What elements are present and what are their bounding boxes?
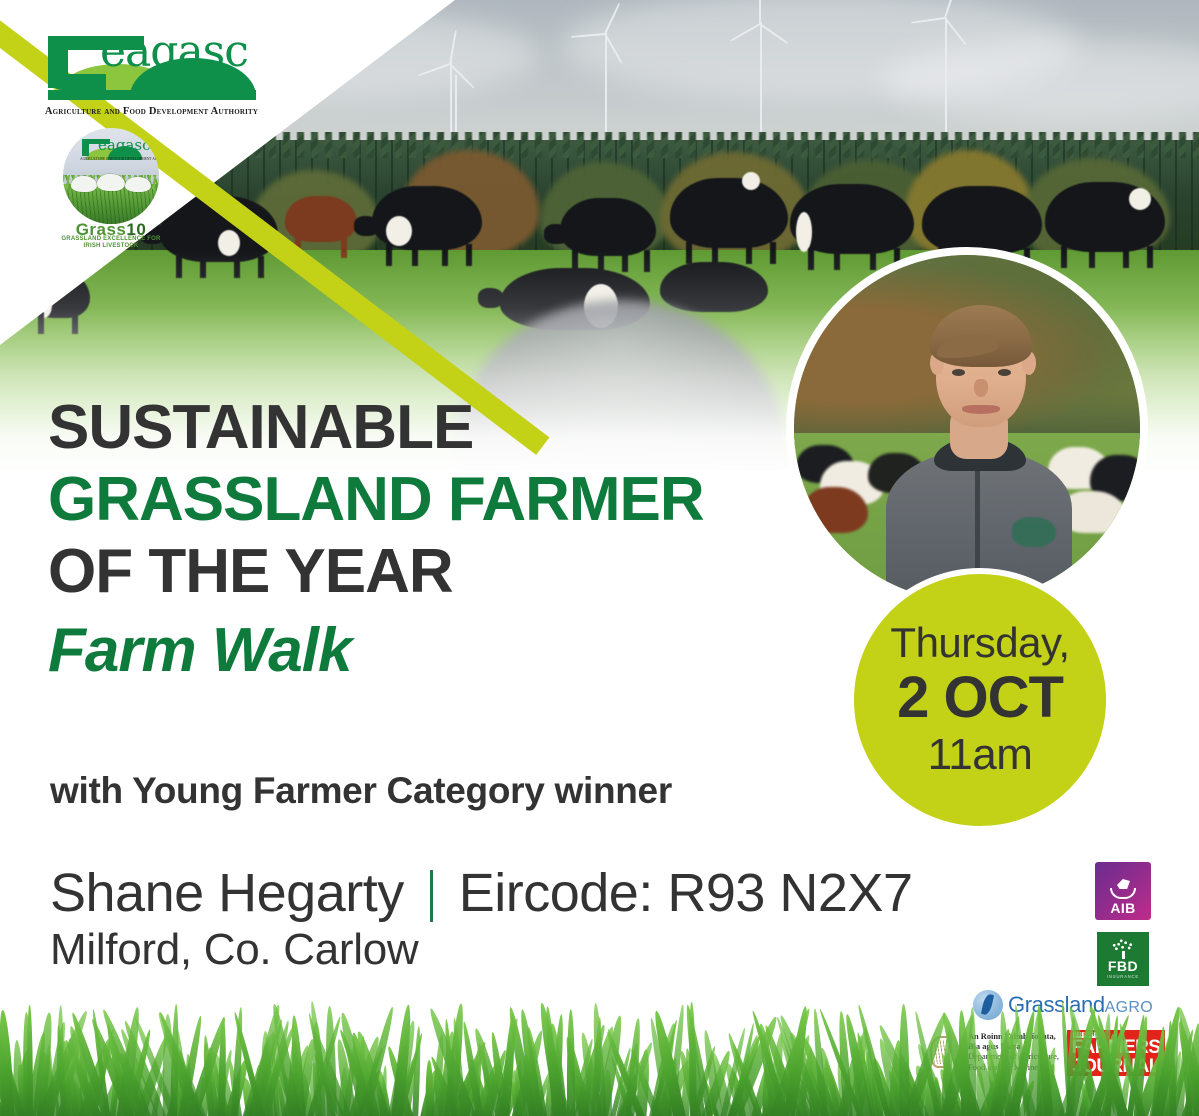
grass-blade [731,1071,747,1116]
grass-blade [133,1034,171,1116]
grassland-agro-word: Grassland [1008,992,1105,1017]
grass-blade [398,1058,420,1116]
grass-blade [200,1043,219,1116]
grass-blade [823,1063,847,1116]
grass-blade [64,1038,84,1116]
grass-blade [836,1064,847,1116]
grass-blade [204,1047,225,1116]
grass-blade [520,1054,542,1116]
grass-blade [175,1029,191,1116]
dafm-line-3: Department of Agriculture, [968,1052,1059,1062]
cow [922,186,1042,254]
grass-blade [524,1026,548,1116]
fbd-subtitle: INSURANCE [1107,974,1139,979]
grass-blade [480,1068,503,1116]
grass-blade [65,1041,104,1116]
sponsor-logo-irish-farmers-journal: IRISH FARMERS JOURNAL [1067,1030,1165,1076]
grass-blade [869,1072,884,1116]
grass-blade [61,1058,80,1116]
grass-blade [391,1004,414,1116]
grass-blade [106,1031,140,1116]
grass-blade [562,1036,590,1116]
grass10-mini-teagasc-logo: eagasc AGRICULTURE AND FOOD DEVELOPMENT … [80,136,142,162]
grass-blade [667,1004,686,1116]
grass-blade [35,1009,91,1116]
dafm-line-1: An Roinn Talmhaíochta, [968,1032,1059,1042]
grass-blade [775,1016,816,1116]
grass-blade [56,1033,85,1116]
grass-blade [856,1004,892,1116]
grass-blade [811,1008,828,1116]
grass-blade [99,1008,153,1116]
grass-blade [479,1048,494,1116]
grass-blade [155,1011,202,1116]
date-badge-date: 2 OCT [897,666,1063,730]
grass-blade [778,1036,813,1116]
grass-blade [821,1059,829,1116]
grass-blade [889,1066,917,1116]
grass-blade [306,1013,336,1116]
teagasc-logo: eagasc Agriculture and Food Development … [44,28,259,116]
grass-blade [609,1047,633,1116]
grass-blade [683,1048,698,1116]
teagasc-wordmark: eagasc [100,26,248,77]
grass-blade [685,1006,714,1116]
grass-blade [651,1009,687,1116]
grass-blade [635,1049,652,1116]
date-badge: Thursday, 2 OCT 11am [848,568,1112,832]
grass-blade [567,1057,590,1116]
grass-blade [515,1059,523,1116]
grass-blade [817,1007,864,1116]
grass-blade [526,1075,548,1116]
grass-blade [125,1063,142,1116]
grass-blade [269,1033,294,1116]
grass-blade [60,1041,71,1116]
grass-blade [253,1018,286,1116]
grass-blade [546,1023,567,1116]
grass-blade [224,1058,252,1116]
grass-blade [186,1016,229,1116]
grass-blade [314,1059,322,1116]
grass-blade [430,1069,451,1116]
grass-blade [334,1038,358,1116]
grass-blade [0,1069,5,1116]
grass-blade [45,1045,53,1116]
grass-blade [650,1020,679,1116]
grass-blade [651,1075,680,1116]
grass-blade [430,1079,449,1116]
grass-blade [799,1036,839,1116]
grass-blade [311,1021,326,1116]
grass-blade [726,1034,763,1116]
grass-blade [117,1052,145,1116]
grass-blade [91,1009,111,1116]
grass-blade [615,1043,641,1116]
grass10-subtitle-line2: IRISH LIVESTOCK [84,243,139,249]
portrait-gilet-logo [1012,517,1056,547]
grass-blade [783,1006,811,1116]
grass-blade [0,1062,15,1116]
grass-blade [544,1067,554,1116]
grass-blade [603,1070,612,1116]
grass-blade [342,1037,359,1116]
grass-blade [348,1031,381,1116]
grass10-circle: eagasc AGRICULTURE AND FOOD DEVELOPMENT … [63,128,159,224]
headline-line-1: SUSTAINABLE [48,392,838,464]
grass-blade [26,1032,49,1116]
grass-blade [97,1062,131,1116]
dafm-line-4: Food and the Marine [968,1063,1059,1073]
grass-blade [661,1035,682,1116]
presenter-row: Shane Hegarty Eircode: R93 N2X7 [50,862,912,924]
grass-blade [231,1007,244,1116]
grass-blade [591,1003,607,1116]
grass-blade [0,1056,25,1116]
grass-blade [150,1068,166,1116]
grass-blade [628,1048,663,1116]
grass-blade [324,1006,336,1116]
grass-blade [795,1047,815,1116]
grass-blade [625,1018,642,1116]
grass-blade [169,1075,183,1116]
grass-blade [811,1071,824,1116]
grass-blade [255,1024,297,1116]
grass-blade [762,1052,773,1116]
cow [1045,182,1165,252]
livestock-silhouette [71,176,97,192]
grass-blade [170,1057,193,1116]
grass-blade [270,1045,280,1116]
grass-blade [294,1039,317,1116]
grass-blade [400,1078,406,1116]
grass-blade [373,1069,392,1116]
grass-blade [544,1006,561,1116]
grass-blade [449,1040,490,1116]
grass-blade [648,1022,679,1116]
grass-blade [552,1080,574,1116]
presenter-name: Shane Hegarty [50,862,404,924]
grass-blade [110,1045,134,1116]
grass-blade [275,1078,287,1116]
grass-blade [69,1011,113,1116]
grass-blade [116,1006,143,1116]
grass-blade [260,1044,278,1116]
grass-blade [488,1031,509,1116]
grass-blade [124,1029,153,1116]
grass-blade [389,1020,418,1116]
grass-blade [550,1014,566,1116]
cow [670,178,788,248]
grass-blade [760,1063,788,1116]
grass-blade [497,1081,522,1116]
dafm-wordmark: An Roinn Talmhaíochta, Bia agus Mara Dep… [968,1032,1059,1073]
grass-blade [783,1062,810,1116]
grass-blade [806,1060,819,1116]
grass-blade [689,1045,718,1116]
grass-blade [837,1011,853,1116]
grass-blade [0,1025,13,1116]
grass-blade [288,1039,299,1116]
grass-blade [211,1063,231,1116]
grass-blade [431,1034,446,1116]
grass-blade [162,1013,174,1116]
grass10-mini-tagline: AGRICULTURE AND FOOD DEVELOPMENT AUTHORI… [80,157,142,161]
presenter-location: Milford, Co. Carlow [50,925,418,975]
grass-blade [0,1044,8,1116]
grass-blade [648,1016,673,1116]
grass-blade [726,1015,780,1116]
grass-blade [460,1021,484,1116]
grass-blade [280,1044,311,1116]
sponsor-logo-grassland-agro: GrasslandAGRO [973,990,1153,1020]
cow [285,196,357,242]
grass-blade [164,1025,208,1116]
grass-blade [202,1034,215,1116]
grass-blade [17,1050,32,1116]
grass-blade [604,1031,647,1116]
grass-blade [869,1057,897,1116]
grass-blade [683,1004,705,1116]
grass10-subtitle: GRASSLAND EXCELLENCE FOR IRISH LIVESTOCK [56,236,166,250]
sponsor-logos: AIB FBD INSURANCE GrasslandAGRO An Roinn [915,862,1190,1102]
grass-blade [385,1045,415,1116]
grass-blade [0,1016,9,1116]
grass-blade [578,1031,604,1116]
grass-blade [536,1001,568,1116]
grass-blade [56,1063,79,1116]
grass-blade [78,1037,88,1116]
date-badge-time: 11am [928,730,1033,780]
grass-blade [387,1016,413,1116]
grass-blade [311,1053,346,1116]
grass-blade [750,1059,773,1116]
grass-blade [120,1058,141,1116]
grass-blade [15,1064,35,1116]
presenter-eircode: Eircode: R93 N2X7 [459,862,913,924]
grass-blade [808,1047,815,1116]
grass-blade [726,1034,761,1116]
grass-blade [380,1065,388,1116]
grass-blade [242,1074,272,1116]
headline-line-3: OF THE YEAR [48,536,838,608]
cow [372,186,482,250]
grass-blade [610,1057,635,1116]
grass-blade [750,1010,791,1116]
grass-blade [480,1049,509,1116]
grass-blade [688,1002,697,1116]
grass-blade [358,1006,397,1116]
grass-blade [0,1049,3,1116]
grass-blade [66,1025,101,1116]
grass-blade [337,1012,374,1116]
grassland-agro-suffix: AGRO [1105,999,1153,1016]
cow [560,198,656,256]
grass-blade [22,1012,33,1116]
grass-blade [337,1028,379,1116]
grass-blade [511,1029,547,1116]
grass-blade [298,1072,314,1116]
grass-blade [817,1046,843,1116]
grass10-badge: eagasc AGRICULTURE AND FOOD DEVELOPMENT … [56,128,166,248]
grass10-subtitle-line1: GRASSLAND EXCELLENCE FOR [61,236,160,242]
grass-blade [419,1069,439,1116]
irish-harp-icon [927,1035,953,1069]
grass-blade [842,1014,873,1116]
sponsor-logo-fbd: FBD INSURANCE [1095,930,1151,988]
grass-blade [36,1055,53,1116]
teagasc-logo-hook [48,74,106,90]
grass-blade [353,1036,367,1116]
grass-blade [862,1028,879,1116]
grass-blade [260,1031,273,1116]
grass-blade [0,1010,14,1116]
aib-wordmark: AIB [1110,901,1135,915]
date-badge-day: Thursday, [890,620,1069,666]
portrait-eye [998,369,1011,376]
grass-blade [456,1060,482,1116]
grass-blade [38,1051,62,1116]
grass-blade [104,1022,132,1116]
grass-blade [261,1019,291,1116]
grass-blade [132,1077,150,1116]
grass-blade [426,1006,478,1116]
grass-blade [513,1066,527,1116]
livestock-silhouette [97,174,125,191]
grass-blade [855,1077,869,1116]
grass-blade [616,1041,656,1116]
grass-blade [855,1032,877,1116]
grass-blade [269,1003,302,1116]
sponsor-logo-aib: AIB [1095,862,1151,920]
grass-blade [786,1030,832,1116]
aib-ark-icon [1110,879,1136,899]
grass-blade [681,1066,692,1116]
grass-blade [438,1031,457,1116]
teagasc-tagline: Agriculture and Food Development Authori… [44,106,259,117]
grass-blade [471,1058,504,1116]
grass-blade [568,1061,599,1116]
grass-blade [200,1077,207,1116]
grassland-agro-leaf-icon [973,990,1003,1020]
grass-blade [310,1028,353,1116]
headline-subtitle: with Young Farmer Category winner [50,770,672,812]
grass-blade [121,1019,168,1116]
grass-blade [428,1055,462,1116]
grass-blade [517,1008,544,1116]
grass-blade [444,1003,466,1116]
grass-blade [118,1028,159,1116]
portrait-eye [952,369,965,376]
grass-blade [425,1060,434,1116]
grass-blade [412,1026,422,1116]
grass-blade [658,1057,680,1116]
ifj-line-2: JOURNAL [1072,1057,1160,1076]
grass-blade [731,1023,756,1116]
grass-blade [591,1017,604,1116]
farmer-portrait [786,247,1148,609]
livestock-silhouette [125,177,151,192]
grass-blade [848,1026,870,1116]
grass-blade [719,1027,748,1116]
grass-blade [109,1068,121,1116]
grass-blade [247,1003,284,1116]
grass-blade [348,1035,384,1116]
grass-blade [471,1027,508,1116]
grass-blade [353,1030,390,1116]
grass-blade [495,1068,515,1116]
grass-blade [185,1054,191,1116]
grass-blade [210,1052,239,1116]
grass-blade [756,1022,785,1116]
grass-blade [619,1074,639,1116]
grass-blade [289,1015,306,1116]
cow [790,184,914,254]
grass-blade [78,1036,116,1116]
grass-blade [338,1066,348,1116]
grass-blade [115,1070,132,1116]
grass-blade [350,1035,378,1116]
grass-blade [1195,1030,1199,1116]
tree-icon [1112,939,1134,959]
grass-blade [56,1005,64,1116]
grass-blade [177,1015,204,1116]
grass-blade [863,1051,883,1116]
teagasc-logo-base [48,90,256,100]
presenter-divider [430,870,433,922]
grass-blade [32,1012,55,1116]
grass-blade [778,1034,814,1116]
dafm-divider [960,1035,961,1069]
grass-blade [766,1032,786,1116]
grass-blade [606,1028,644,1116]
grass-blade [165,1071,189,1116]
grass-blade [511,1070,523,1116]
grass-blade [471,1042,484,1116]
grass-blade [768,1007,813,1116]
grass-blade [553,1062,567,1116]
grass-blade [443,1070,465,1116]
portrait-nose [974,379,988,397]
grass-blade [505,1006,537,1116]
grass-blade [308,1062,323,1116]
grass-blade [240,1077,260,1116]
grass-blade [836,1034,866,1116]
grass-blade [899,1004,910,1116]
grass-blade [725,1032,759,1116]
grass-blade [396,1032,424,1116]
grass-blade [885,1069,912,1116]
grass-blade [678,1050,703,1116]
grass-blade [227,1059,243,1116]
grass-blade [443,1019,457,1116]
grass-blade [26,1005,32,1116]
grass-blade [850,1044,864,1116]
grassland-agro-wordmark: GrasslandAGRO [1008,992,1153,1018]
grass-blade [709,1051,735,1116]
grass-blade [568,1038,595,1116]
grass-blade [507,1080,529,1116]
headline-event-type: Farm Walk [48,608,838,694]
sponsor-logo-dafm: An Roinn Talmhaíochta, Bia agus Mara Dep… [927,1032,1059,1073]
grass-blade [730,1042,764,1116]
grass-blade [11,1040,24,1116]
grass-blade [241,1030,279,1116]
grass-blade [722,1061,753,1116]
grass-blade [177,1049,197,1116]
grass-blade [876,1038,906,1116]
grass-blade [284,1053,300,1116]
